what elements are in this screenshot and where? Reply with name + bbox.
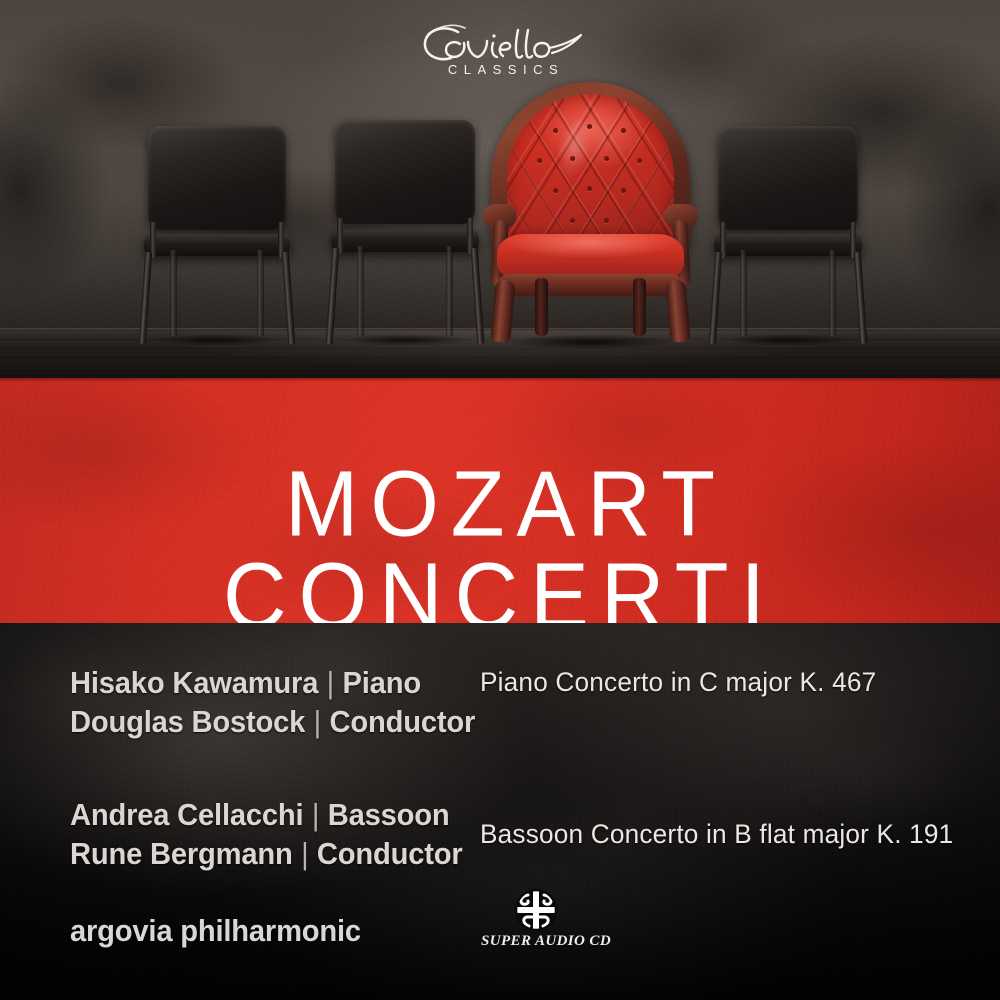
credit-row-piano: Hisako Kawamura|Piano (70, 663, 474, 702)
credit-separator: | (318, 665, 342, 700)
performer-name: Andrea Cellacchi (70, 797, 303, 832)
tuft-button (604, 156, 609, 161)
album-cover: CLASSICS MOZART CONCERTI Hisako Kawamura… (0, 0, 1000, 1000)
credit-separator: | (305, 704, 329, 739)
credit-separator: | (293, 836, 317, 871)
chair-backrest (718, 126, 858, 230)
chair-backrest (148, 126, 286, 230)
sacd-emblem-icon (508, 888, 564, 932)
chair-leg-back-left (357, 246, 364, 336)
tuft-button (621, 188, 626, 193)
armchair-leg-back-left (535, 278, 548, 336)
chair-seat (331, 230, 479, 252)
tuft-button (570, 156, 575, 161)
tuft-button (587, 186, 592, 191)
chair-floor-shadow (701, 332, 875, 348)
armchair-leg-back-right (633, 278, 646, 336)
armchair-floor-shadow (470, 332, 711, 352)
credit-row-bassoon: Andrea Cellacchi|Bassoon (70, 795, 474, 834)
tuft-button (637, 158, 642, 163)
credits-group-spacer (70, 741, 500, 795)
chair-leg-back-left (170, 250, 177, 336)
performer-name: Douglas Bostock (70, 704, 305, 739)
band-top-edge (0, 378, 1000, 382)
album-title: MOZART CONCERTI (0, 458, 1000, 643)
credit-row-conductor-1: Douglas Bostock|Conductor (70, 702, 474, 741)
orchestra-name: argovia philharmonic (70, 913, 361, 949)
sacd-format-badge: SUPER AUDIO CD (481, 888, 591, 950)
tuft-button (537, 158, 542, 163)
armchair-tufted-backrest (507, 94, 674, 254)
black-chair-center-left (335, 120, 475, 342)
credits-panel: Hisako Kawamura|Piano Douglas Bostock|Co… (0, 623, 1000, 1000)
chair-leg-back-left (740, 250, 747, 336)
credit-separator: | (303, 797, 327, 832)
tuft-button (553, 128, 558, 133)
chair-backrest (335, 120, 475, 224)
performer-role: Conductor (317, 836, 463, 871)
chair-leg-back-right (257, 250, 264, 336)
tuft-button (604, 218, 609, 223)
performer-name: Rune Bergmann (70, 836, 293, 871)
tuft-button (570, 218, 575, 223)
chair-leg-back-right (829, 250, 836, 336)
armchair-seat-rail (499, 274, 682, 296)
coviello-script-icon (418, 22, 588, 66)
performer-credits: Hisako Kawamura|Piano Douglas Bostock|Co… (70, 663, 500, 873)
performer-role: Bassoon (328, 797, 450, 832)
cover-photograph: CLASSICS (0, 0, 1000, 378)
black-chair-left (148, 126, 286, 342)
red-armchair (483, 82, 698, 344)
chair-leg-back-right (446, 246, 453, 336)
performer-name: Hisako Kawamura (70, 665, 318, 700)
tuft-button (553, 188, 558, 193)
works-group-spacer (480, 699, 950, 817)
chair-floor-shadow (318, 332, 492, 348)
work-title-bassoon-concerto: Bassoon Concerto in B flat major K. 191 (480, 817, 936, 851)
tuft-button (587, 124, 592, 129)
sacd-label-text: SUPER AUDIO CD (481, 933, 591, 950)
chair-seat (714, 234, 862, 256)
black-chair-right (718, 126, 858, 342)
record-label-logo: CLASSICS (418, 22, 588, 84)
performer-role: Conductor (330, 704, 476, 739)
works-list: Piano Concerto in C major K. 467 Bassoon… (480, 665, 950, 851)
chair-floor-shadow (131, 332, 302, 348)
performer-role: Piano (343, 665, 421, 700)
label-classics-text: CLASSICS (418, 62, 588, 77)
tuft-button (621, 128, 626, 133)
chair-seat (144, 234, 290, 256)
credit-row-conductor-2: Rune Bergmann|Conductor (70, 834, 474, 873)
work-title-piano-concerto: Piano Concerto in C major K. 467 (480, 665, 936, 699)
